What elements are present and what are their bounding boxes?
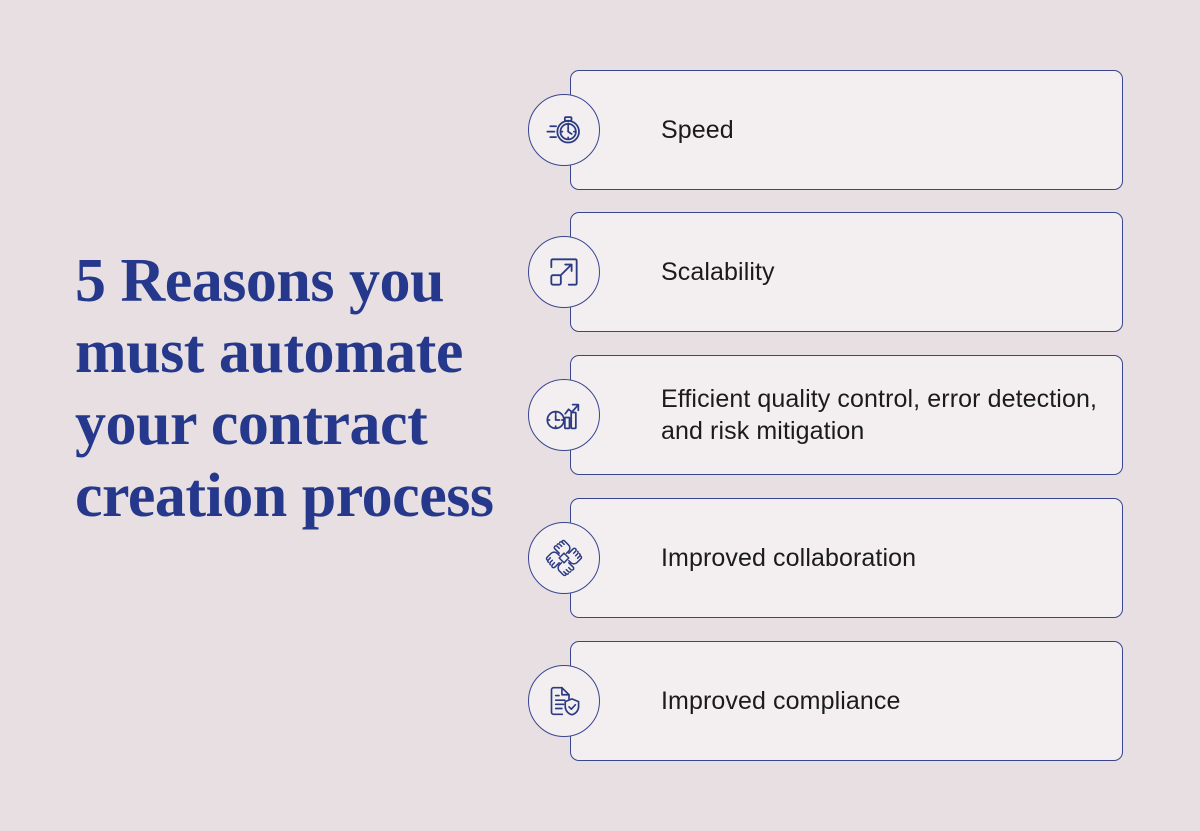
reason-card[interactable]: Speed — [570, 70, 1123, 190]
scale-expand-arrow-icon — [545, 253, 583, 291]
clock-bar-chart-growth-icon — [544, 395, 584, 435]
stopwatch-speed-icon — [544, 110, 584, 150]
reason-label: Scalability — [571, 256, 793, 289]
reason-card[interactable]: Efficient quality control, error detecti… — [570, 355, 1123, 475]
four-hands-teamwork-icon — [543, 537, 585, 579]
reason-icon-badge — [528, 665, 600, 737]
reason-card[interactable]: Scalability — [570, 212, 1123, 332]
reason-icon-badge — [528, 236, 600, 308]
reason-card[interactable]: Improved compliance — [570, 641, 1123, 761]
reason-label: Improved compliance — [571, 685, 919, 718]
reason-card[interactable]: Improved collaboration — [570, 498, 1123, 618]
infographic-canvas: 5 Reasons you must automate your contrac… — [0, 0, 1200, 831]
document-shield-check-icon — [544, 681, 584, 721]
reason-icon-badge — [528, 94, 600, 166]
reason-label: Improved collaboration — [571, 542, 934, 575]
reason-label: Efficient quality control, error detecti… — [571, 383, 1122, 448]
reason-icon-badge — [528, 379, 600, 451]
page-title: 5 Reasons you must automate your contrac… — [75, 246, 505, 534]
reason-icon-badge — [528, 522, 600, 594]
